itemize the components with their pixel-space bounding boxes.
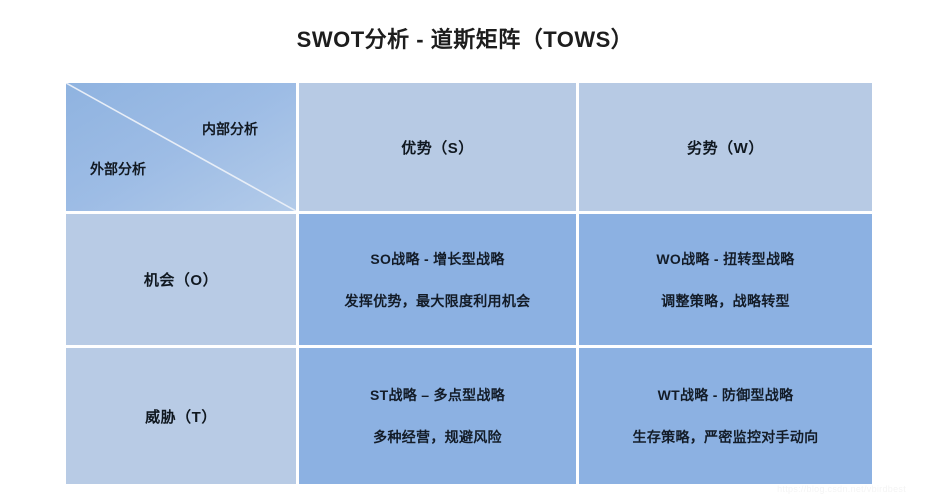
- column-header-weaknesses: 劣势（W）: [579, 83, 872, 211]
- strategy-so-description: 发挥优势，最大限度利用机会: [345, 291, 531, 311]
- page-title: SWOT分析 - 道斯矩阵（TOWS）: [0, 22, 930, 54]
- strategy-wo-title: WO战略 - 扭转型战略: [656, 249, 794, 269]
- strategy-st-title: ST战略 – 多点型战略: [370, 385, 505, 405]
- column-header-strengths: 优势（S）: [299, 83, 576, 211]
- matrix-corner-cell: 内部分析 外部分析: [66, 83, 296, 211]
- strategy-cell-wo: WO战略 - 扭转型战略 调整策略，战略转型: [579, 214, 872, 345]
- strategy-wt-description: 生存策略，严密监控对手动向: [633, 427, 819, 447]
- row-header-opportunities: 机会（O）: [66, 214, 296, 345]
- corner-label-external: 外部分析: [90, 159, 146, 179]
- row-header-threats-label: 威胁（T）: [145, 406, 217, 427]
- strategy-so-title: SO战略 - 增长型战略: [370, 249, 504, 269]
- row-header-opportunities-label: 机会（O）: [144, 269, 218, 290]
- row-header-threats: 威胁（T）: [66, 348, 296, 484]
- diagonal-divider-icon: [66, 83, 296, 211]
- strategy-cell-so: SO战略 - 增长型战略 发挥优势，最大限度利用机会: [299, 214, 576, 345]
- corner-label-internal: 内部分析: [202, 119, 258, 139]
- strategy-cell-wt: WT战略 - 防御型战略 生存策略，严密监控对手动向: [579, 348, 872, 484]
- strategy-st-description: 多种经营，规避风险: [373, 427, 502, 447]
- strategy-cell-st: ST战略 – 多点型战略 多种经营，规避风险: [299, 348, 576, 484]
- strategy-wo-description: 调整策略，战略转型: [661, 291, 790, 311]
- column-header-strengths-label: 优势（S）: [401, 137, 474, 158]
- watermark: https://blog.csdn.net/vbirdbest: [777, 484, 906, 494]
- column-header-weaknesses-label: 劣势（W）: [687, 137, 764, 158]
- swot-tows-matrix: 内部分析 外部分析 优势（S） 劣势（W） 机会（O） SO战略 - 增长型战略…: [66, 83, 866, 478]
- strategy-wt-title: WT战略 - 防御型战略: [658, 385, 794, 405]
